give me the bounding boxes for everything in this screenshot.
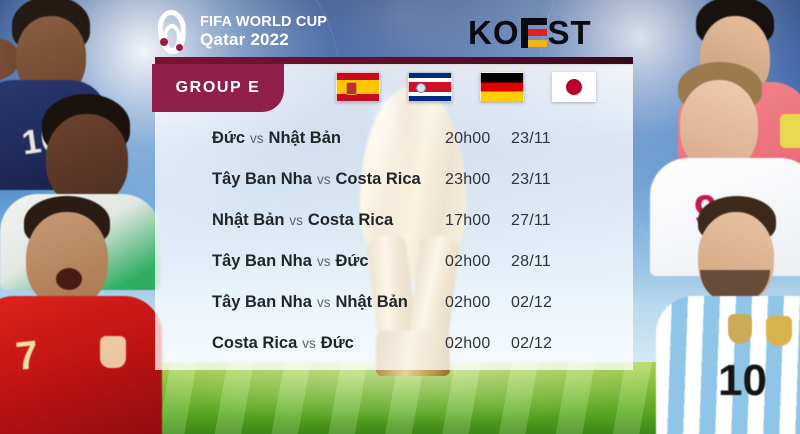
match-time: 17h00 <box>445 212 511 230</box>
kofest-logo-text-right: ST <box>548 16 592 49</box>
match-time: 02h00 <box>445 335 511 353</box>
match-row: Tây Ban NhavsĐức02h0028/11 <box>155 241 633 282</box>
match-time: 02h00 <box>445 294 511 312</box>
match-teams: Tây Ban NhavsĐức <box>155 252 445 271</box>
match-date: 27/11 <box>511 212 569 230</box>
vs-label: vs <box>302 336 316 351</box>
vs-label: vs <box>250 131 264 146</box>
match-teams: Tây Ban NhavsNhật Bản <box>155 293 445 312</box>
vs-label: vs <box>317 172 331 187</box>
kofest-f-mark-icon <box>521 18 547 48</box>
jersey-number: 7 <box>14 333 41 380</box>
flag-germany <box>480 72 524 102</box>
match-teams: Tây Ban NhavsCosta Rica <box>155 170 445 189</box>
fifa-world-cup-lockup: FIFA WORLD CUP Qatar 2022 <box>152 8 327 56</box>
flag-spain <box>336 72 380 102</box>
match-row: Tây Ban NhavsCosta Rica23h0023/11 <box>155 159 633 200</box>
flag-costa-rica <box>408 72 452 102</box>
away-team: Đức <box>335 252 368 270</box>
match-date: 02/12 <box>511 335 569 353</box>
home-team: Tây Ban Nha <box>212 170 312 188</box>
home-team: Nhật Bản <box>212 211 284 229</box>
away-team: Costa Rica <box>308 211 393 229</box>
group-flags-row <box>336 72 596 102</box>
match-date: 23/11 <box>511 171 569 189</box>
home-team: Đức <box>212 129 245 147</box>
kofest-logo[interactable]: KO ST <box>468 16 592 49</box>
match-date: 28/11 <box>511 253 569 271</box>
match-date: 02/12 <box>511 294 569 312</box>
group-badge: GROUP E <box>152 64 284 112</box>
flag-japan <box>552 72 596 102</box>
match-row: ĐứcvsNhật Bản20h0023/11 <box>155 118 633 159</box>
fifa-world-cup-text: FIFA WORLD CUP <box>200 15 327 31</box>
away-team: Costa Rica <box>335 170 420 188</box>
away-team: Nhật Bản <box>269 129 341 147</box>
player-messi-argentina: 10 <box>668 196 800 434</box>
away-team: Nhật Bản <box>335 293 407 311</box>
vs-label: vs <box>317 295 331 310</box>
group-label: GROUP E <box>176 79 261 97</box>
match-time: 23h00 <box>445 171 511 189</box>
vs-label: vs <box>317 254 331 269</box>
match-teams: ĐứcvsNhật Bản <box>155 129 445 148</box>
home-team: Tây Ban Nha <box>212 252 312 270</box>
home-team: Costa Rica <box>212 334 297 352</box>
match-time: 02h00 <box>445 253 511 271</box>
vs-label: vs <box>289 213 303 228</box>
poster-stage: 10 7 9 10 FIFA WORLD CUP Qatar 2022 KO <box>0 0 800 434</box>
qatar-2022-text: Qatar 2022 <box>200 31 327 49</box>
away-team: Đức <box>321 334 354 352</box>
match-list: ĐứcvsNhật Bản20h0023/11Tây Ban NhavsCost… <box>155 118 633 364</box>
player-ronaldo-portugal: 7 <box>0 196 162 434</box>
match-row: Tây Ban NhavsNhật Bản02h0002/12 <box>155 282 633 323</box>
match-date: 23/11 <box>511 130 569 148</box>
kofest-logo-text-left: KO <box>468 16 520 49</box>
home-team: Tây Ban Nha <box>212 293 312 311</box>
match-row: Costa RicavsĐức02h0002/12 <box>155 323 633 364</box>
match-teams: Costa RicavsĐức <box>155 334 445 353</box>
match-row: Nhật BảnvsCosta Rica17h0027/11 <box>155 200 633 241</box>
jersey-number: 10 <box>718 356 767 406</box>
match-time: 20h00 <box>445 130 511 148</box>
match-teams: Nhật BảnvsCosta Rica <box>155 211 445 230</box>
qatar-2022-emblem-icon <box>152 8 192 56</box>
